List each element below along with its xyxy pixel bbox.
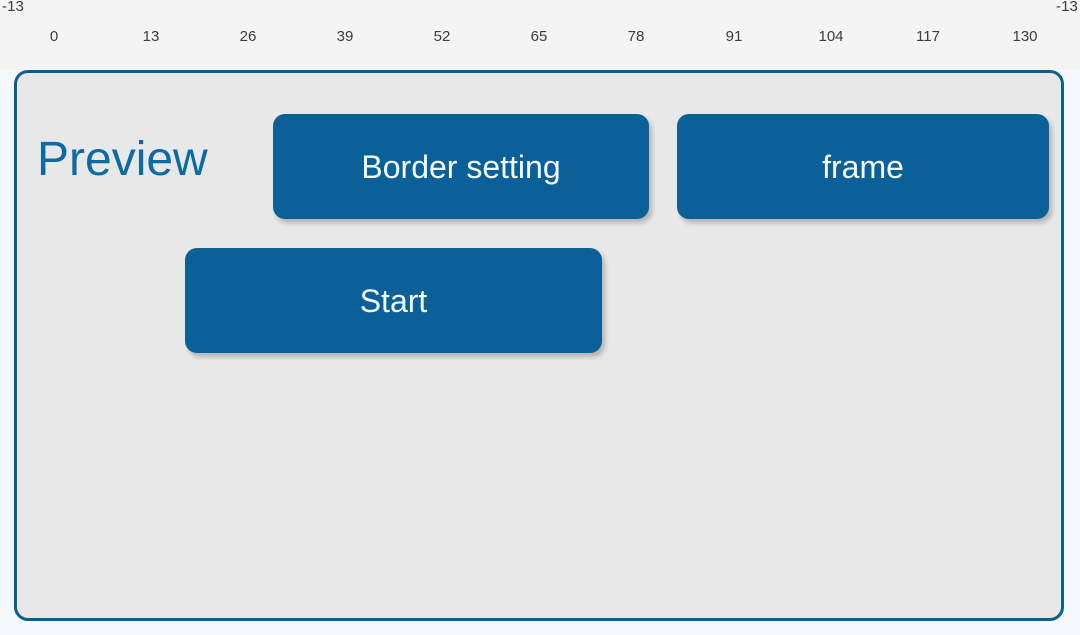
preview-panel-body: Preview Border setting frame Start [17,73,1061,618]
ruler-tick-label: 130 [1012,28,1037,45]
ruler-tick-label: 39 [337,28,354,45]
horizontal-ruler: -13 -13 013263952657891104117130 [0,0,1080,70]
preview-panel: Preview Border setting frame Start [14,70,1064,621]
ruler-tick-label: 117 [916,28,940,45]
ruler-tick-label: 65 [531,28,548,45]
start-button[interactable]: Start [185,248,602,353]
ruler-tick-label: 26 [240,28,257,45]
ruler-tick-label: 52 [434,28,451,45]
page-title: Preview [37,136,208,184]
ruler-corner-label-left: -13 [2,0,24,15]
ruler-tick-label: 91 [726,28,743,45]
ruler-tick-label: 104 [818,28,843,45]
border-setting-button[interactable]: Border setting [273,114,649,219]
ruler-tick-label: 78 [628,28,645,45]
ruler-tick-label: 0 [50,28,58,45]
ruler-corner-label-right: -13 [1056,0,1078,15]
frame-button[interactable]: frame [677,114,1049,219]
ruler-tick-label: 13 [143,28,160,45]
